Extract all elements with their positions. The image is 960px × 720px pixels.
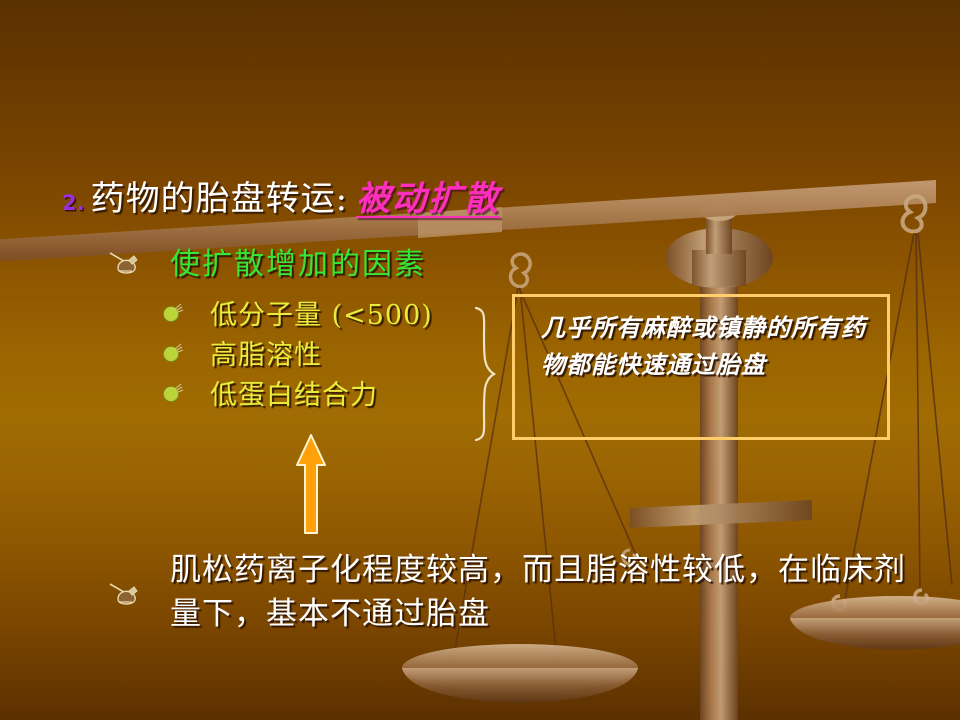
slide-canvas: 2.药物的胎盘转运:被动扩散 使扩散增加的因素 低分子量 (<500) 高脂溶性	[0, 0, 960, 720]
factors-heading-row: 使扩散增加的因素	[108, 239, 426, 283]
factors-heading-label: 使扩散增加的因素	[170, 239, 426, 283]
list-item-label: 高脂溶性	[210, 333, 322, 372]
list-item-label: 低分子量 (<500)	[210, 293, 433, 332]
slide-title: 2.药物的胎盘转运:被动扩散	[62, 182, 500, 216]
conclusion-row: 肌松药离子化程度较高，而且脂溶性较低，在临床剂量下，基本不通过胎盘	[108, 548, 930, 636]
right-curly-brace-icon	[470, 306, 504, 442]
callout-text: 几乎所有麻醉或镇静的所有药物都能快速通过胎盘	[515, 297, 887, 383]
up-arrow-icon	[294, 432, 328, 536]
ball-bullet-icon	[162, 301, 184, 323]
pencil-bullet-icon	[108, 250, 142, 276]
title-number: 2.	[62, 191, 85, 215]
conclusion-label: 肌松药离子化程度较高，而且脂溶性较低，在临床剂量下，基本不通过胎盘	[170, 548, 930, 636]
ball-bullet-icon	[162, 381, 184, 403]
title-emphasis-text: 被动扩散	[356, 179, 500, 219]
factors-sub-list: 低分子量 (<500) 高脂溶性 低蛋白结合力	[162, 292, 433, 412]
callout-box: 几乎所有麻醉或镇静的所有药物都能快速通过胎盘	[512, 294, 890, 440]
list-item: 低蛋白结合力	[162, 372, 433, 412]
list-item: 高脂溶性	[162, 332, 433, 372]
ball-bullet-icon	[162, 341, 184, 363]
pencil-bullet-icon	[108, 581, 142, 607]
list-item: 低分子量 (<500)	[162, 292, 433, 332]
list-item-label: 低蛋白结合力	[210, 373, 378, 412]
title-main-text: 药物的胎盘转运:	[91, 179, 348, 219]
